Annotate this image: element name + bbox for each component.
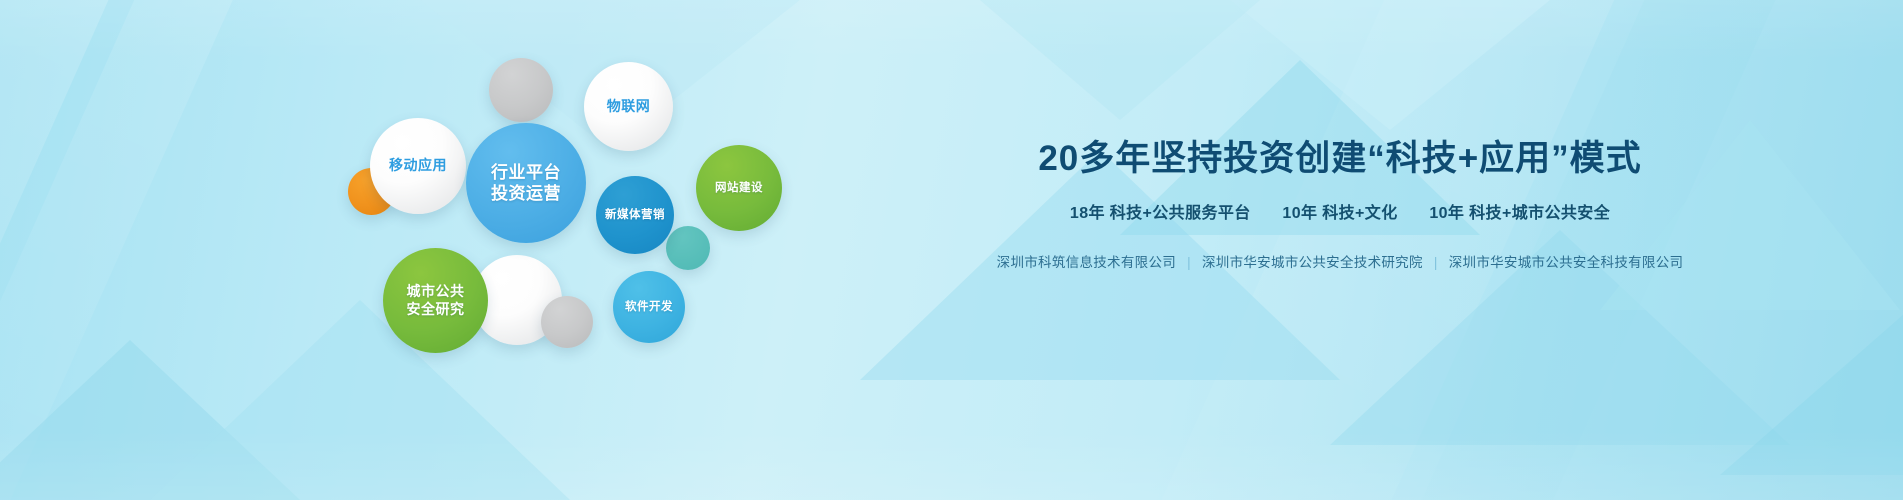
footer-company-1: 深圳市科筑信息技术有限公司 xyxy=(997,255,1176,270)
bubble-industry-platform-line1: 行业平台 xyxy=(491,163,561,182)
bubble-industry-platform-center[interactable]: 行业平台 投资运营 xyxy=(466,123,586,243)
banner-headline: 20多年坚持投资创建“科技+应用”模式 xyxy=(830,130,1850,181)
footer-separator-1: | xyxy=(1187,255,1191,270)
bubble-urban-public-safety[interactable]: 城市公共 安全研究 xyxy=(383,248,488,353)
bubble-new-media-marketing-label: 新媒体营销 xyxy=(605,208,665,222)
bubble-mobile-app[interactable]: 移动应用 xyxy=(370,118,466,214)
bubble-iot[interactable]: 物联网 xyxy=(584,62,673,151)
bubble-software-development-label: 软件开发 xyxy=(625,300,673,314)
bubble-mobile-app-label: 移动应用 xyxy=(389,157,447,175)
banner-subtitle: 18年 科技+公共服务平台 10年 科技+文化 10年 科技+城市公共安全 xyxy=(830,199,1850,223)
bubble-new-media-marketing[interactable]: 新媒体营销 xyxy=(596,176,674,254)
footer-separator-2: | xyxy=(1434,255,1438,270)
footer-company-3: 深圳市华安城市公共安全科技有限公司 xyxy=(1449,255,1684,270)
bubble-website-construction-label: 网站建设 xyxy=(715,181,763,195)
bubble-urban-public-safety-line1: 城市公共 xyxy=(407,283,465,299)
bubble-cluster-diagram: 移动应用 物联网 网站建设 城市公共 安全研究 新媒体营销 软件开发 行业平台 … xyxy=(0,0,840,500)
bubble-decorative-teal xyxy=(666,226,710,270)
bubble-decorative-gray-bottom xyxy=(541,296,593,348)
bubble-iot-label: 物联网 xyxy=(607,98,651,116)
bubble-urban-public-safety-label: 城市公共 安全研究 xyxy=(407,283,465,318)
bubble-industry-platform-line2: 投资运营 xyxy=(491,184,561,203)
banner-footer-companies: 深圳市科筑信息技术有限公司 | 深圳市华安城市公共安全技术研究院 | 深圳市华安… xyxy=(830,251,1850,271)
footer-company-2: 深圳市华安城市公共安全技术研究院 xyxy=(1202,255,1423,270)
subtitle-item-2: 10年 科技+文化 xyxy=(1282,205,1397,222)
bubble-urban-public-safety-line2: 安全研究 xyxy=(407,301,465,317)
subtitle-item-1: 18年 科技+公共服务平台 xyxy=(1070,205,1251,222)
bubble-software-development[interactable]: 软件开发 xyxy=(613,271,685,343)
banner-text-block: 20多年坚持投资创建“科技+应用”模式 18年 科技+公共服务平台 10年 科技… xyxy=(830,130,1850,271)
promo-banner: 移动应用 物联网 网站建设 城市公共 安全研究 新媒体营销 软件开发 行业平台 … xyxy=(0,0,1903,500)
bubble-decorative-gray-top xyxy=(489,58,553,122)
bubble-industry-platform-label: 行业平台 投资运营 xyxy=(491,162,561,205)
bubble-website-construction[interactable]: 网站建设 xyxy=(696,145,782,231)
subtitle-item-3: 10年 科技+城市公共安全 xyxy=(1429,205,1610,222)
